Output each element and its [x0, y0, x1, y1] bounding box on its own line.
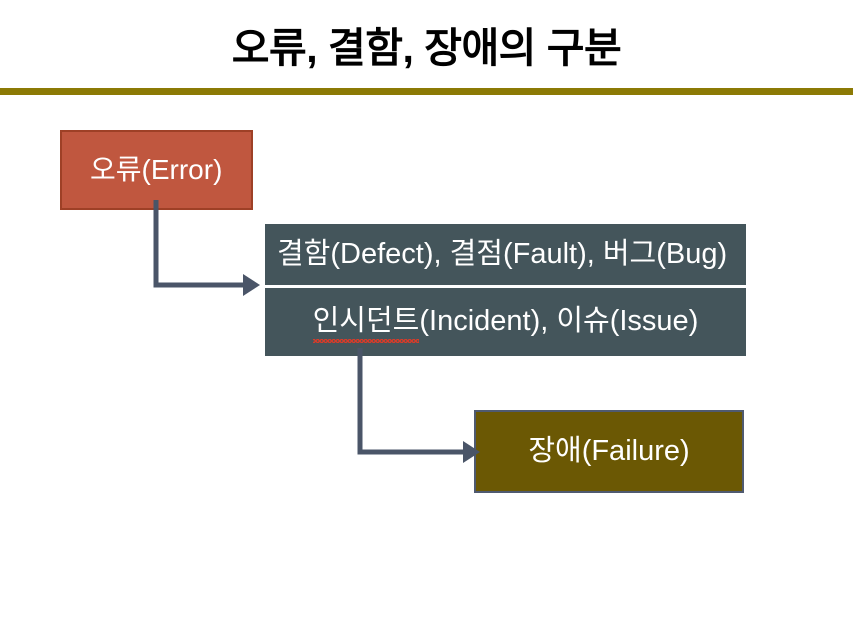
node-defect[interactable]: 결함(Defect), 결점(Fault), 버그(Bug) [265, 224, 746, 285]
spellcheck-underlined-text: 인시던트 [313, 306, 420, 338]
node-failure[interactable]: 장애(Failure) [474, 410, 744, 493]
node-failure-label: 장애(Failure) [528, 436, 689, 468]
page-title: 오류, 결함, 장애의 구분 [0, 14, 853, 74]
connector-incident-to-failure [345, 348, 490, 470]
node-incident[interactable]: 인시던트(Incident), 이슈(Issue) [265, 288, 746, 356]
node-error[interactable]: 오류(Error) [60, 130, 253, 210]
slide-canvas: 오류, 결함, 장애의 구분 오류(Error) 결함(Defect), 결점(… [0, 0, 853, 644]
connector-error-to-defect [140, 200, 270, 304]
node-error-label: 오류(Error) [90, 155, 222, 186]
node-defect-label: 결함(Defect), 결점(Fault), 버그(Bug) [277, 239, 727, 271]
node-incident-label-rest: (Incident), 이슈(Issue) [419, 306, 698, 338]
title-divider [0, 88, 853, 95]
